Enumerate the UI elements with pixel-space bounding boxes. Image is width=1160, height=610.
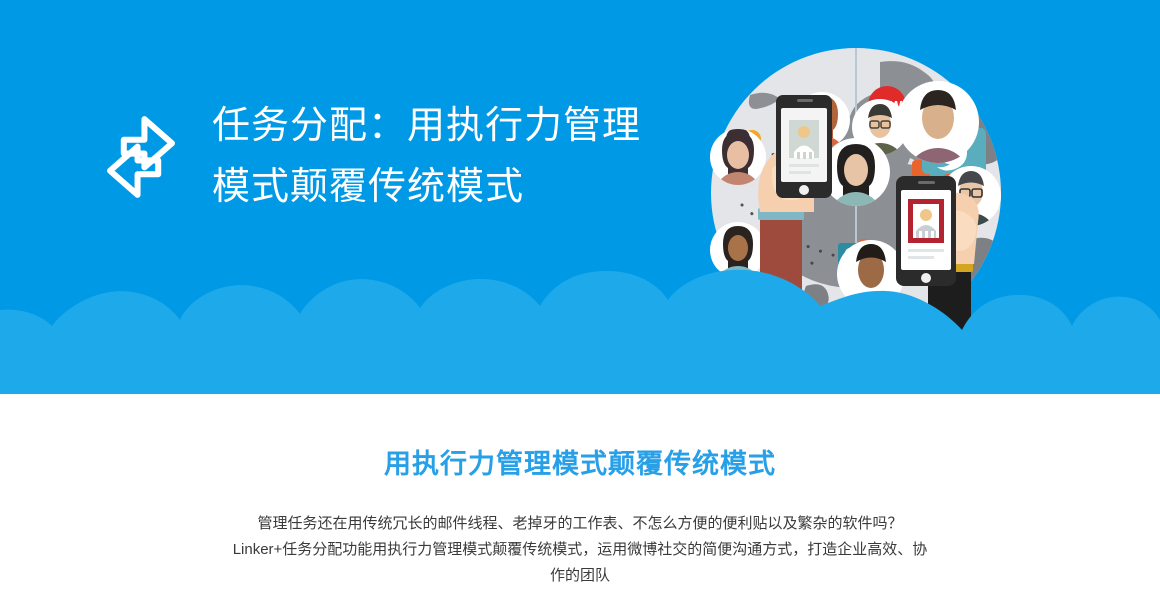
description-line-3: 作的团队 xyxy=(0,563,1160,589)
right-phone xyxy=(896,176,956,286)
headline-line-1: 任务分配：用执行力管理 xyxy=(212,96,641,157)
hero-headline-text: 任务分配：用执行力管理 模式颠覆传统模式 xyxy=(212,96,641,218)
section-description: 管理任务还在用传统冗长的邮件线程、老掉牙的工作表、不怎么方便的便利贴以及繁杂的软… xyxy=(0,511,1160,589)
section-title: 用执行力管理模式颠覆传统模式 xyxy=(0,442,1160,481)
description-line-2: Linker+任务分配功能用执行力管理模式颠覆传统模式，运用微博社交的简便沟通方… xyxy=(0,537,1160,563)
headline-line-2: 模式颠覆传统模式 xyxy=(212,157,641,218)
description-line-1: 管理任务还在用传统冗长的邮件线程、老掉牙的工作表、不怎么方便的便利贴以及繁杂的软… xyxy=(0,511,1160,537)
hero-banner: 1 1 xyxy=(0,0,1160,394)
lower-content-section: 用执行力管理模式颠覆传统模式 管理任务还在用传统冗长的邮件线程、老掉牙的工作表、… xyxy=(0,394,1160,610)
hero-headline-block: 任务分配：用执行力管理 模式颠覆传统模式 xyxy=(98,96,641,218)
page-root: 1 1 xyxy=(0,0,1160,610)
exchange-arrows-icon xyxy=(98,114,184,200)
left-phone xyxy=(776,95,832,198)
